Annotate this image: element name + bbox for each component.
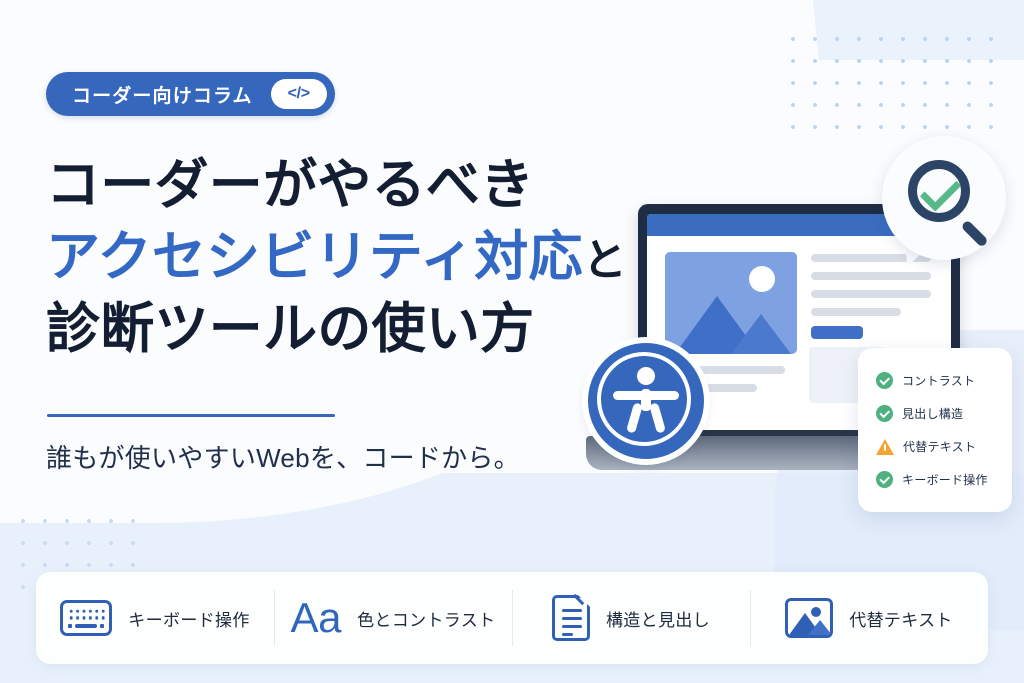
sun-icon <box>749 266 775 292</box>
screen-text-line <box>811 308 901 316</box>
page-title: コーダーがやるべき アクセシビリティ対応と 診断ツールの使い方 <box>46 150 627 365</box>
headline-line-1: コーダーがやるべき <box>46 150 627 222</box>
screen-text-line <box>811 290 931 298</box>
check-circle-icon <box>876 405 893 422</box>
category-badge[interactable]: コーダー向けコラム </> <box>46 72 335 116</box>
check-circle-icon <box>876 372 893 389</box>
warning-triangle-icon <box>876 439 894 455</box>
keyboard-icon <box>60 600 112 636</box>
magnifier-check-bubble <box>882 136 1006 260</box>
checklist-item: 見出し構造 <box>858 397 1012 430</box>
category-badge-label: コーダー向けコラム <box>72 81 253 108</box>
checklist-item: コントラスト <box>858 364 1012 397</box>
feature-item-label: 色とコントラスト <box>357 606 495 631</box>
screen-image-placeholder <box>665 252 797 354</box>
audit-checklist-card: コントラスト 見出し構造 代替テキスト キーボード操作 <box>858 348 1012 512</box>
feature-item-contrast[interactable]: Aa 色とコントラスト <box>274 590 512 646</box>
feature-item-label: キーボード操作 <box>128 606 249 631</box>
accessibility-icon <box>588 343 704 459</box>
feature-item-label: 構造と見出し <box>606 606 710 631</box>
dot-grid-top-right <box>782 28 1010 138</box>
aa-typography-icon: Aa <box>291 597 342 639</box>
headline-accent: アクセシビリティ対応 <box>46 227 583 287</box>
document-icon <box>552 595 590 641</box>
accessibility-figure-head <box>637 367 655 385</box>
feature-bar: キーボード操作 Aa 色とコントラスト 構造と見出し 代替テキスト <box>36 572 988 664</box>
feature-item-label: 代替テキスト <box>849 606 953 631</box>
feature-item-keyboard[interactable]: キーボード操作 <box>36 590 274 646</box>
mountain-shape-small <box>731 314 791 354</box>
checklist-item-label: 代替テキスト <box>903 438 976 455</box>
checklist-item: キーボード操作 <box>858 463 1012 496</box>
checklist-item-label: キーボード操作 <box>902 471 988 488</box>
screen-text-line <box>811 272 931 280</box>
feature-item-alt-text[interactable]: 代替テキスト <box>750 590 988 646</box>
screen-button-shape <box>811 326 863 339</box>
magnifier-handle <box>960 219 988 247</box>
headline-line-2: アクセシビリティ対応と <box>46 222 627 294</box>
checklist-item-label: コントラスト <box>902 372 975 389</box>
checklist-item-label: 見出し構造 <box>902 405 963 422</box>
subtitle: 誰もが使いやすいWebを、コードから。 <box>46 438 520 475</box>
checklist-item: 代替テキスト <box>858 430 1012 463</box>
feature-item-structure[interactable]: 構造と見出し <box>512 590 750 646</box>
title-divider <box>47 414 335 417</box>
hero-banner: コーダー向けコラム </> コーダーがやるべき アクセシビリティ対応と 診断ツー… <box>0 0 1024 683</box>
check-circle-icon <box>876 471 893 488</box>
code-icon: </> <box>271 79 327 109</box>
image-icon <box>785 598 833 638</box>
headline-line-3: 診断ツールの使い方 <box>46 294 627 366</box>
